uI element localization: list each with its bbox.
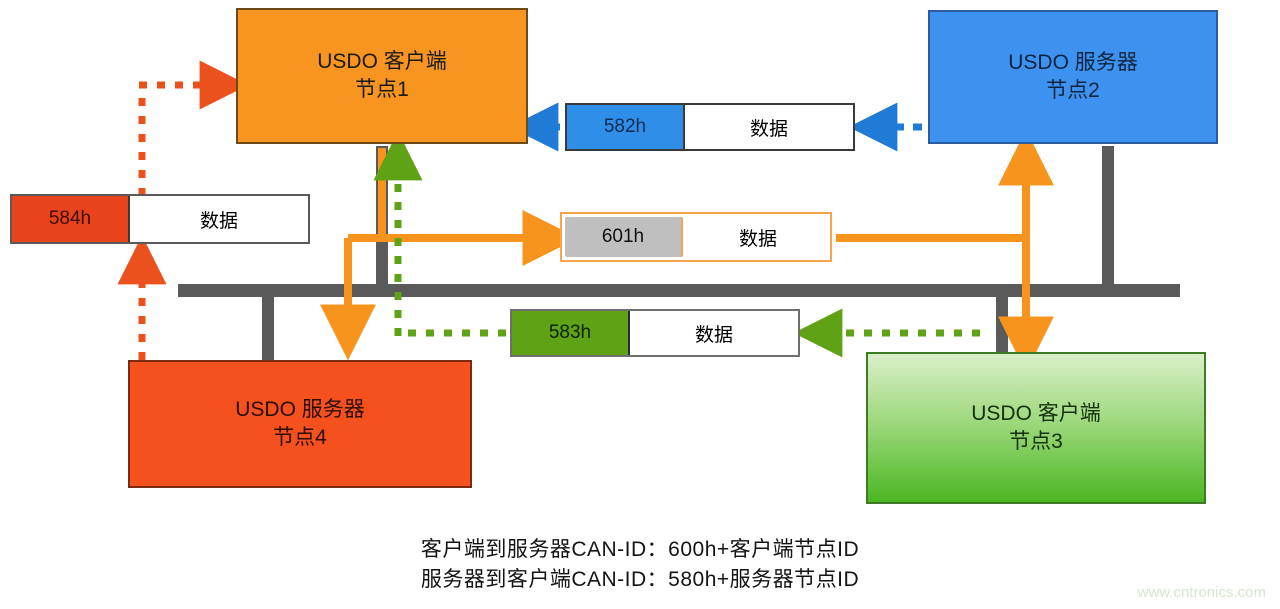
caption-line-client-to-server: 客户端到服务器CAN-ID：600h+客户端节点ID bbox=[0, 535, 1280, 565]
can-id-field: 583h bbox=[512, 311, 630, 355]
message-frame-583h[interactable]: 583h 数据 bbox=[510, 309, 800, 357]
data-field: 数据 bbox=[630, 311, 798, 355]
can-id-field: 582h bbox=[567, 105, 685, 149]
diagram-canvas: USDO 客户端 节点1 USDO 服务器 节点2 USDO 客户端 节点3 U… bbox=[0, 0, 1280, 609]
node-usdo-server-2[interactable]: USDO 服务器 节点2 bbox=[928, 10, 1218, 144]
node-usdo-client-1[interactable]: USDO 客户端 节点1 bbox=[236, 8, 528, 144]
data-field: 数据 bbox=[130, 196, 308, 242]
node-label: USDO 服务器 节点4 bbox=[235, 396, 365, 453]
node-usdo-server-4[interactable]: USDO 服务器 节点4 bbox=[128, 360, 472, 488]
node-label: USDO 服务器 节点2 bbox=[1008, 49, 1138, 106]
message-frame-582h[interactable]: 582h 数据 bbox=[565, 103, 855, 151]
data-field: 数据 bbox=[685, 105, 853, 149]
data-field: 数据 bbox=[686, 214, 830, 260]
message-frame-601h[interactable]: 601h 数据 bbox=[560, 212, 832, 262]
watermark: www.cntronics.com bbox=[1138, 584, 1266, 601]
node-label: USDO 客户端 节点3 bbox=[971, 400, 1101, 457]
node-usdo-client-3[interactable]: USDO 客户端 节点3 bbox=[866, 352, 1206, 504]
message-frame-584h[interactable]: 584h 数据 bbox=[10, 194, 310, 244]
node-label: USDO 客户端 节点1 bbox=[317, 48, 447, 105]
can-id-field: 601h bbox=[565, 217, 683, 257]
caption-block: 客户端到服务器CAN-ID：600h+客户端节点ID 服务器到客户端CAN-ID… bbox=[0, 535, 1280, 595]
caption-line-server-to-client: 服务器到客户端CAN-ID：580h+服务器节点ID bbox=[0, 565, 1280, 595]
can-id-field: 584h bbox=[12, 196, 130, 242]
